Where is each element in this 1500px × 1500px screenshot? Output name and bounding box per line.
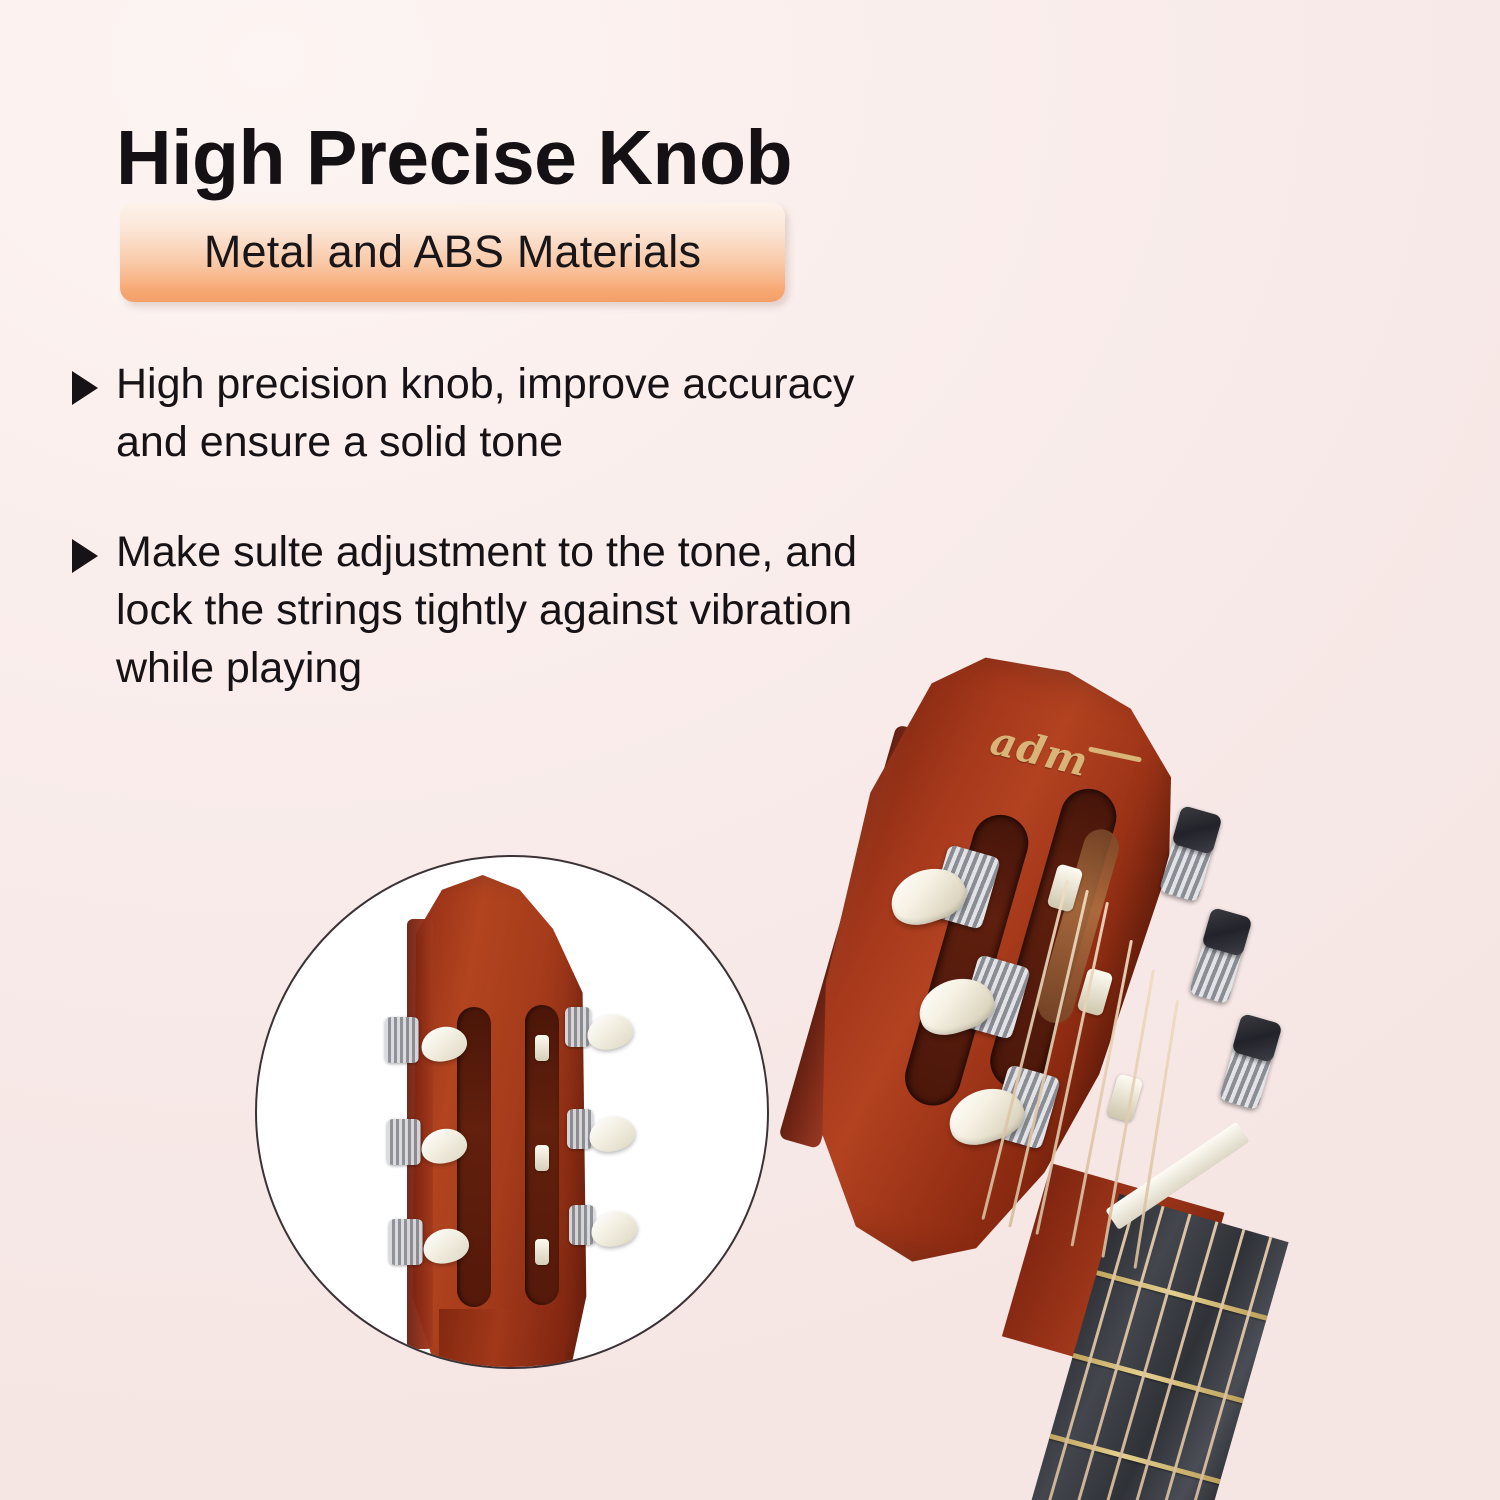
inset-tuning-knob	[584, 1011, 636, 1054]
page-title: High Precise Knob	[116, 120, 792, 197]
feature-bullet-list: High precision knob, improve accuracy an…	[72, 355, 952, 749]
list-item-label: High precision knob, improve accuracy an…	[116, 355, 936, 471]
list-item: High precision knob, improve accuracy an…	[72, 355, 952, 471]
headstock-closeup-circle	[255, 855, 769, 1369]
inset-tuner-post	[535, 1145, 549, 1171]
list-item-label: Make sulte adjustment to the tone, and l…	[116, 523, 936, 697]
inset-tuner-gear	[389, 1219, 423, 1265]
inset-tuner-post	[535, 1035, 549, 1061]
inset-illustration	[257, 857, 767, 1367]
triangle-right-icon	[72, 539, 98, 573]
guitar-headstock-photo: adm	[880, 640, 1500, 1500]
inset-tuning-knob	[588, 1208, 640, 1251]
inset-tuner-gear	[385, 1017, 419, 1063]
inset-tuner-gear	[567, 1109, 593, 1149]
inset-tuner-gear	[565, 1007, 591, 1047]
guitar-string	[1154, 1198, 1284, 1500]
status-badge: Metal and ABS Materials	[120, 202, 785, 302]
product-feature-page: High Precise Knob Metal and ABS Material…	[0, 0, 1500, 1500]
tuner-post	[1106, 1073, 1143, 1122]
list-item: Make sulte adjustment to the tone, and l…	[72, 523, 952, 697]
inset-neck	[439, 1309, 565, 1369]
status-badge-label: Metal and ABS Materials	[204, 226, 701, 278]
inset-tuner-gear	[387, 1119, 421, 1165]
triangle-right-icon	[72, 371, 98, 405]
inset-tuning-knob	[586, 1113, 638, 1156]
inset-tuner-post	[535, 1239, 549, 1265]
inset-tuner-gear	[569, 1205, 595, 1245]
